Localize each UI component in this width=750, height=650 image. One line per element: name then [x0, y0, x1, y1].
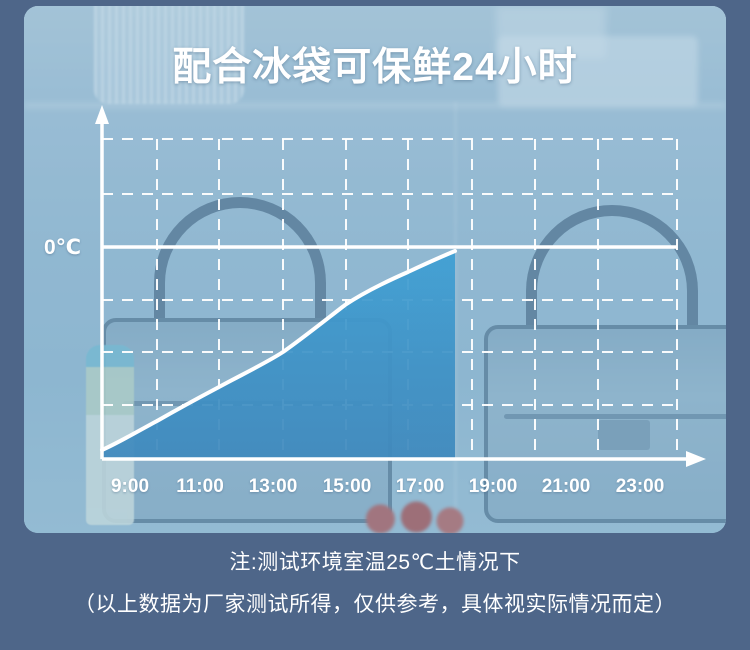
footer-notes: 注:测试环境室温25℃土情况下 （以上数据为厂家测试所得，仅供参考，具体视实际情…	[0, 546, 750, 618]
y-axis-arrow	[95, 105, 109, 124]
temperature-chart: 0℃ 9:00 11:00 13:00 15:00 17:00 19:00 21…	[0, 0, 750, 533]
chart-svg	[0, 0, 750, 533]
x-tick-label-4: 17:00	[396, 476, 445, 498]
x-tick-label-0: 9:00	[111, 476, 149, 498]
x-tick-label-7: 23:00	[616, 476, 665, 498]
footer-note-line-2: （以上数据为厂家测试所得，仅供参考，具体视实际情况而定）	[0, 588, 750, 618]
x-tick-label-5: 19:00	[469, 476, 518, 498]
x-tick-label-6: 21:00	[542, 476, 591, 498]
y-axis-label: 0℃	[44, 235, 81, 260]
x-axis-tick-labels: 9:00 11:00 13:00 15:00 17:00 19:00 21:00…	[0, 476, 750, 502]
page-root: 配合冰袋可保鲜24小时	[0, 0, 750, 650]
x-tick-label-3: 15:00	[323, 476, 372, 498]
footer-note-line-1: 注:测试环境室温25℃土情况下	[0, 546, 750, 576]
x-tick-label-2: 13:00	[249, 476, 298, 498]
x-tick-label-1: 11:00	[176, 476, 224, 498]
x-axis-arrow	[686, 451, 706, 467]
